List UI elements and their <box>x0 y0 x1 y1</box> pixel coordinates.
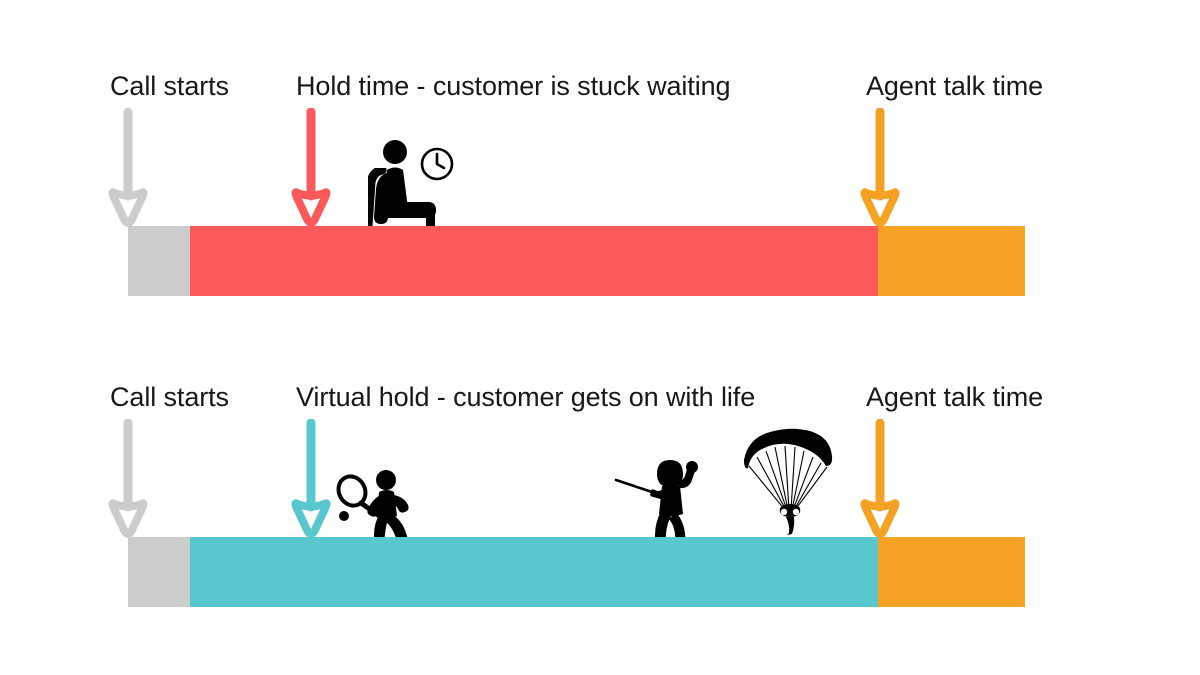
timeline-bar <box>128 537 1025 607</box>
paraglider-icon <box>740 426 836 536</box>
agent-talk-time-arrow <box>857 419 903 539</box>
virtual-hold-arrow <box>288 419 334 539</box>
call-starts-label: Call starts <box>110 382 229 412</box>
agent-talk-segment <box>878 226 1025 296</box>
diagram-canvas: Call starts Hold time - customer is stuc… <box>0 0 1200 675</box>
call-starts-arrow <box>105 419 151 539</box>
clock-icon <box>418 145 456 183</box>
virtual-hold-segment <box>190 537 878 607</box>
agent-talk-time-label: Agent talk time <box>866 71 1043 101</box>
virtual-hold-timeline: Call starts Virtual hold - customer gets… <box>0 311 1200 651</box>
call-starts-label: Call starts <box>110 71 229 101</box>
agent-talk-time-label: Agent talk time <box>866 382 1043 412</box>
call-start-segment <box>128 226 190 296</box>
hold-time-segment <box>190 226 878 296</box>
call-starts-arrow <box>105 108 151 228</box>
traditional-hold-timeline: Call starts Hold time - customer is stuc… <box>0 0 1200 330</box>
tennis-player-icon <box>334 469 420 545</box>
hold-time-arrow <box>288 108 334 228</box>
agent-talk-segment <box>878 537 1025 607</box>
virtual-hold-label: Virtual hold - customer gets on with lif… <box>296 382 755 412</box>
hold-time-label: Hold time - customer is stuck waiting <box>296 71 730 101</box>
fencer-icon <box>614 458 714 548</box>
call-start-segment <box>128 537 190 607</box>
agent-talk-time-arrow <box>857 108 903 228</box>
timeline-bar <box>128 226 1025 296</box>
